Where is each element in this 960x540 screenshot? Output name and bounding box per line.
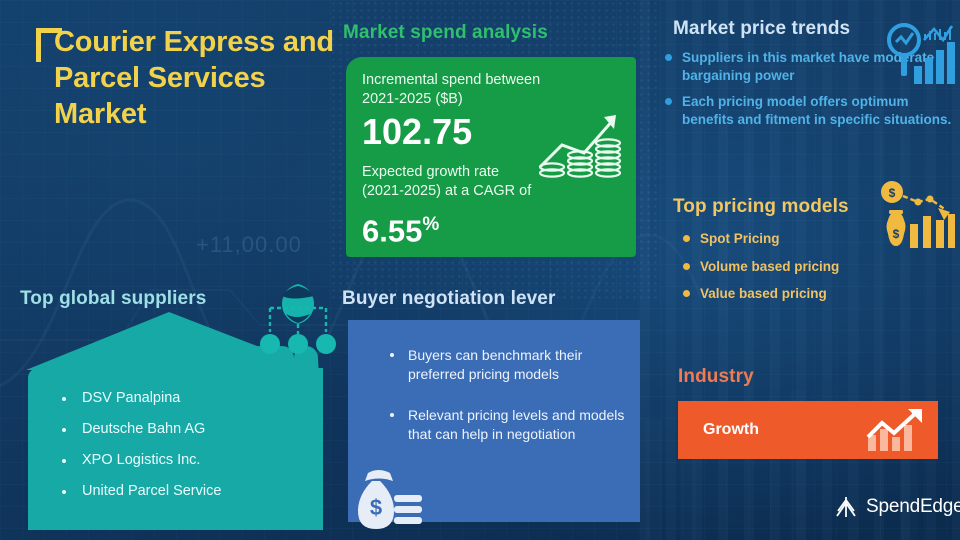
growth-rate-label-line2: (2021-2025) at a CAGR of [362,182,620,201]
cagr-percent-symbol: % [422,214,439,235]
list-item: Spot Pricing [678,230,960,248]
industry-heading: Industry [678,366,960,388]
list-item: Deutsche Bahn AG [56,421,323,437]
logo-text: SpendEdge [866,496,960,518]
top-global-suppliers-block: Top global suppliers DSV Panalpina Deuts… [14,288,344,310]
top-global-suppliers-list: DSV Panalpina Deutsche Bahn AG XPO Logis… [56,390,323,499]
industry-status-label: Growth [703,421,759,439]
top-pricing-models-block: $ $ Top pricing models Spot Pricing Volu… [660,196,960,313]
page-title: Courier Express and Parcel Services Mark… [36,24,336,132]
spendedge-chevron-logo-icon [833,494,859,520]
buyer-negotiation-lever-block: Buyer negotiation lever Buyers can bench… [340,288,640,310]
cagr-value-wrap: 6.55% [362,207,620,249]
incremental-spend-label-line1: Incremental spend between [362,71,620,90]
infographic-canvas: +11,00.00 Courier Express and Parcel Ser… [0,0,960,540]
spend-heading-wrap: Market spend analysis [343,22,548,44]
buyer-negotiation-lever-list: Buyers can benchmark their preferred pri… [384,346,626,444]
list-item: Relevant pricing levels and models that … [384,406,626,444]
growth-arrow-icon [866,407,928,453]
svg-text:$: $ [889,186,896,200]
money-bag-icon: $ [352,455,428,531]
globe-network-icon [252,282,344,362]
list-item: Value based pricing [678,285,960,303]
list-item: Volume based pricing [678,258,960,276]
title-block: Courier Express and Parcel Services Mark… [36,24,336,132]
top-global-suppliers-card: DSV Panalpina Deutsche Bahn AG XPO Logis… [28,368,323,530]
list-item: Each pricing model offers optimum benefi… [660,93,960,128]
svg-text:$: $ [370,495,382,520]
list-item: XPO Logistics Inc. [56,452,323,468]
cagr-value: 6.55 [362,213,422,248]
list-item: Buyers can benchmark their preferred pri… [384,346,626,384]
market-spend-analysis-heading: Market spend analysis [343,22,548,44]
list-item: United Parcel Service [56,483,323,499]
industry-status-badge: Growth [678,401,938,459]
spendedge-logo: SpendEdge ™ [833,494,960,520]
top-pricing-models-list: Spot Pricing Volume based pricing Value … [678,230,960,303]
buyer-negotiation-lever-heading: Buyer negotiation lever [342,288,640,310]
list-item: DSV Panalpina [56,390,323,406]
market-price-trends-block: Market price trends Suppliers in this ma… [660,18,960,137]
industry-block: Industry Growth [678,366,960,459]
market-spend-card: Incremental spend between 2021-2025 ($B)… [346,57,636,257]
coins-growth-icon [536,105,624,183]
corner-bracket-icon [36,28,62,62]
magnifier-barchart-icon [880,20,960,92]
